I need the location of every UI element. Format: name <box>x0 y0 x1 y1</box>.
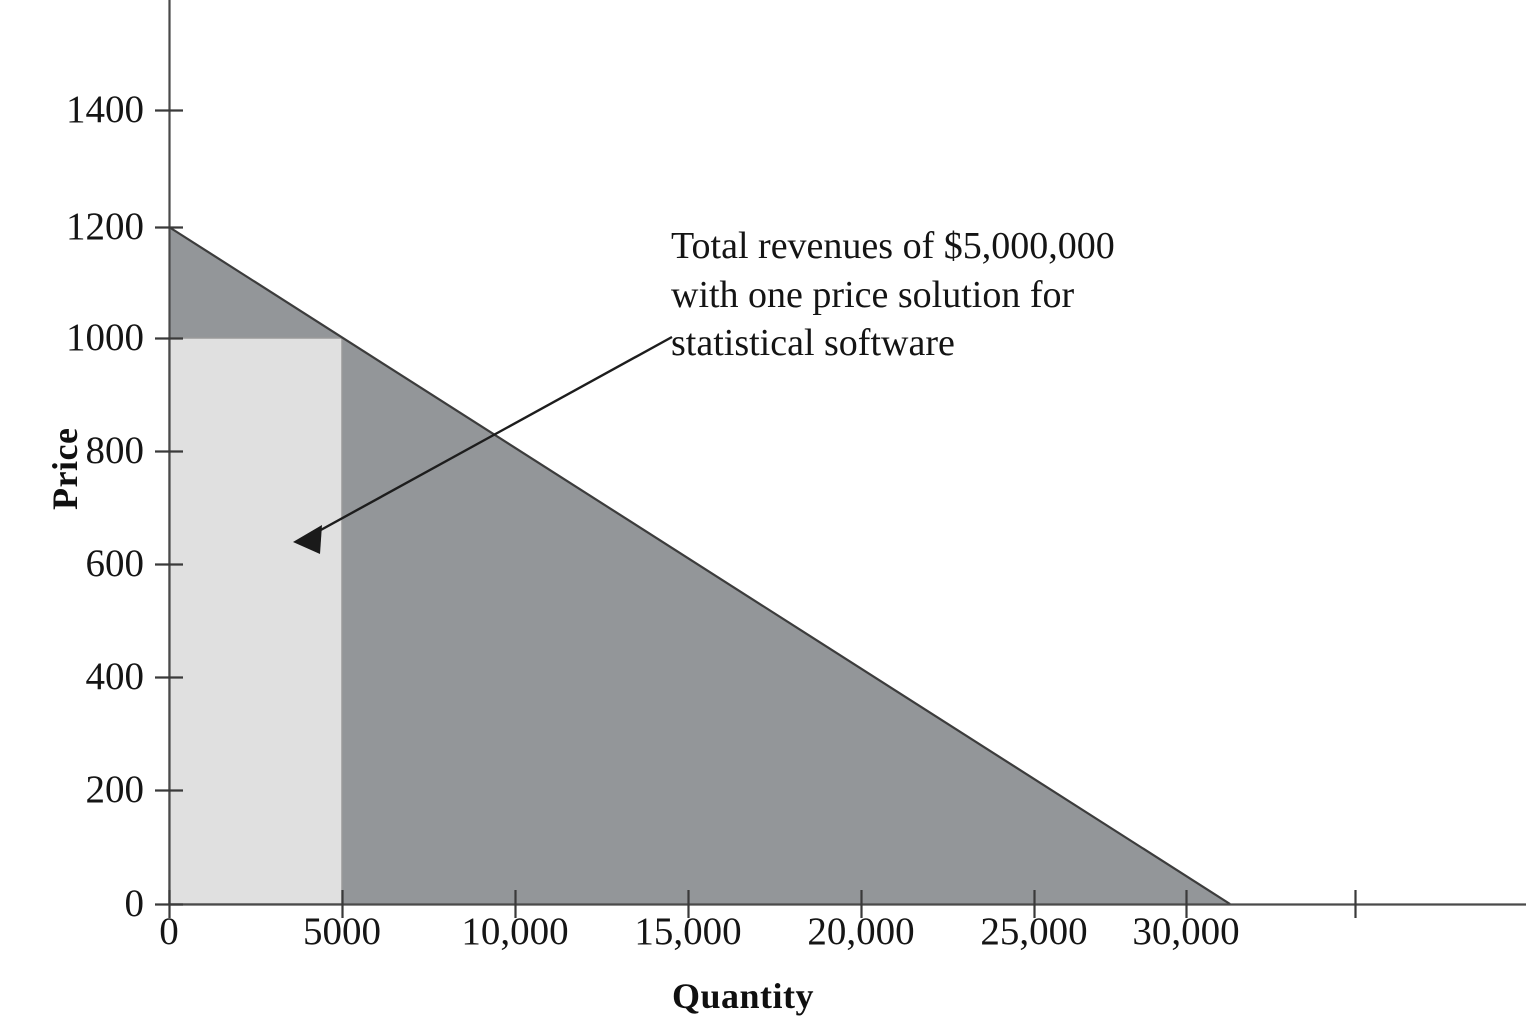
y-tick-label-400: 400 <box>20 657 144 696</box>
revenue-demand-chart: 1400 1200 1000 800 600 400 200 0 0 5000 … <box>0 0 1526 1030</box>
revenue-annotation: Total revenues of $5,000,000 with one pr… <box>671 222 1211 368</box>
x-tick-label-10000: 10,000 <box>425 912 605 951</box>
revenue-rectangle <box>169 338 342 904</box>
y-tick-label-200: 200 <box>20 770 144 809</box>
x-tick-label-15000: 15,000 <box>598 912 778 951</box>
annotation-line-1: Total revenues of $5,000,000 <box>671 222 1211 271</box>
annotation-line-3: statistical software <box>671 319 1211 368</box>
x-tick-label-5000: 5000 <box>267 912 417 951</box>
y-tick-label-1400: 1400 <box>20 90 144 129</box>
y-tick-label-1200: 1200 <box>20 207 144 246</box>
x-tick-label-30000: 30,000 <box>1096 912 1276 951</box>
y-tick-label-1000: 1000 <box>20 318 144 357</box>
x-axis-title: Quantity <box>672 975 814 1017</box>
y-axis-title: Price <box>44 428 86 510</box>
y-tick-label-600: 600 <box>20 544 144 583</box>
x-tick-label-20000: 20,000 <box>771 912 951 951</box>
plot-area <box>0 0 1526 1030</box>
annotation-line-2: with one price solution for <box>671 271 1211 320</box>
x-tick-label-0: 0 <box>109 912 229 951</box>
